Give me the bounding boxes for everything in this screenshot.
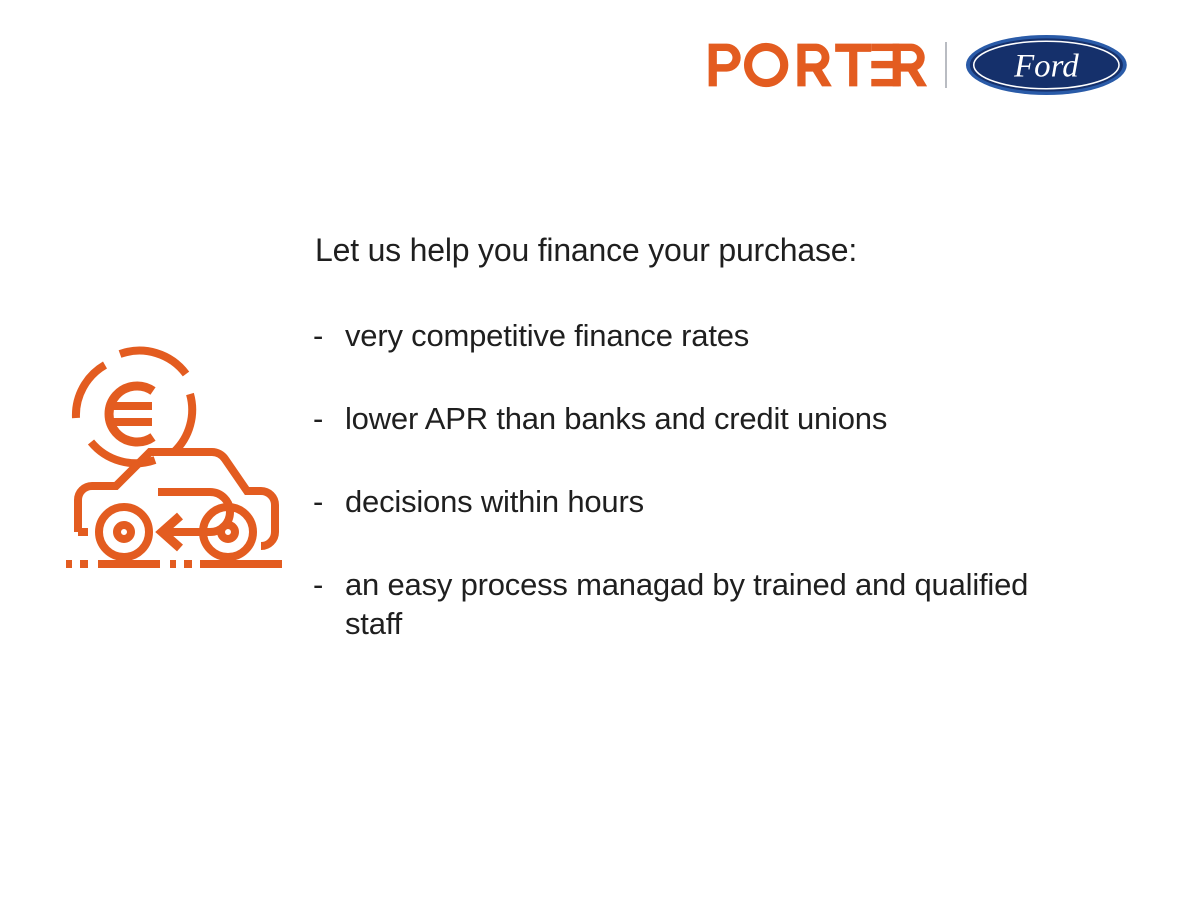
copy-block: Let us help you finance your purchase: -…: [313, 232, 1113, 643]
list-item-label: very competitive finance rates: [345, 316, 1065, 355]
list-item: - an easy process managad by trained and…: [313, 565, 1113, 643]
benefit-list: - very competitive finance rates - lower…: [313, 316, 1113, 643]
list-item: - lower APR than banks and credit unions: [313, 399, 1113, 438]
brand-logo-lockup: Ford: [707, 34, 1128, 96]
list-item: - decisions within hours: [313, 482, 1113, 521]
car-euro-finance-icon: [58, 332, 290, 572]
bullet-marker: -: [313, 316, 345, 355]
bullet-marker: -: [313, 399, 345, 438]
lead-line: Let us help you finance your purchase:: [315, 232, 1113, 270]
list-item-label: an easy process managad by trained and q…: [345, 565, 1065, 643]
ford-oval-logo: Ford: [965, 34, 1128, 96]
bullet-marker: -: [313, 482, 345, 521]
svg-text:Ford: Ford: [1013, 49, 1079, 85]
list-item-label: lower APR than banks and credit unions: [345, 399, 1065, 438]
logo-divider: [945, 42, 947, 88]
list-item-label: decisions within hours: [345, 482, 1065, 521]
porter-wordmark: [707, 42, 927, 88]
bullet-marker: -: [313, 565, 345, 604]
list-item: - very competitive finance rates: [313, 316, 1113, 355]
